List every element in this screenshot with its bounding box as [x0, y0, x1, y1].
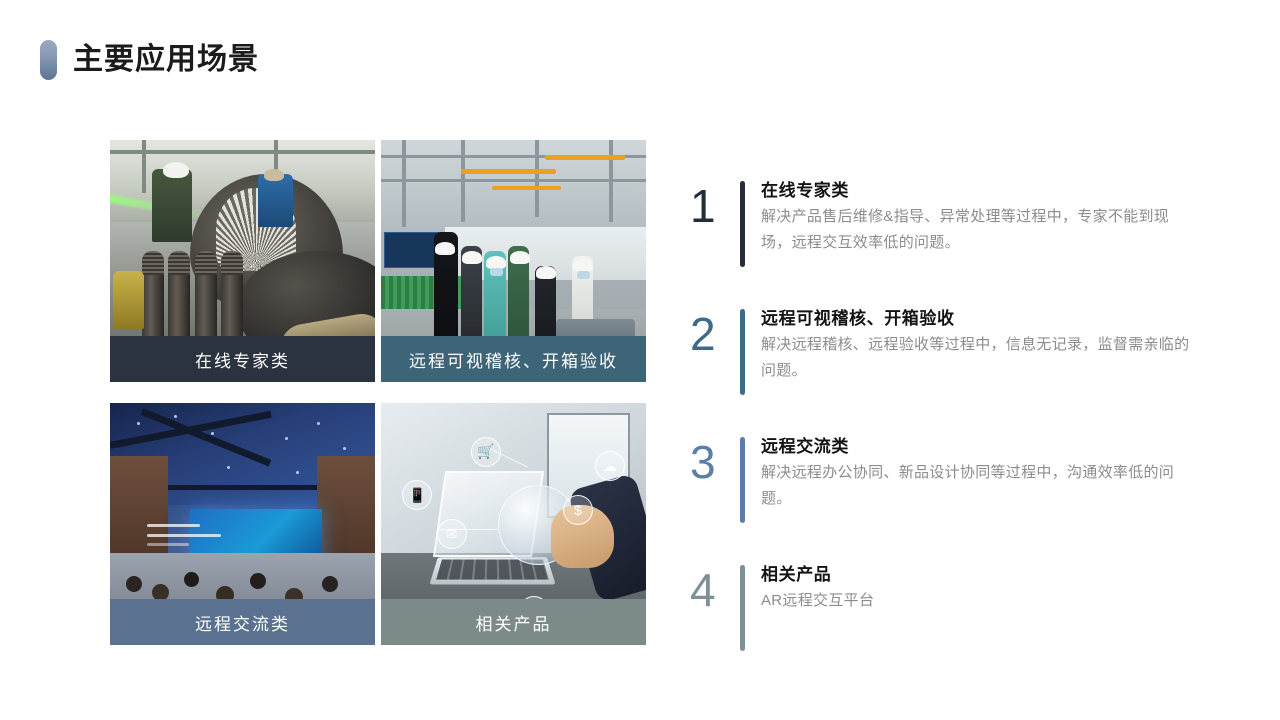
photo-card-remote-communication[interactable]: 远程交流类 — [110, 403, 375, 645]
list-item[interactable]: 4 相关产品 AR远程交互平台 — [690, 562, 1210, 670]
photo-card-related-product[interactable]: 🛒 ✉ 📱 ☁ $ ▯ 相关产品 — [381, 403, 646, 645]
photo-caption: 在线专家类 — [110, 336, 375, 382]
point-title: 远程交流类 — [761, 434, 1210, 460]
photo-caption: 远程交流类 — [110, 599, 375, 645]
point-number: 4 — [690, 562, 740, 618]
photo-caption: 远程可视稽核、开箱验收 — [381, 336, 646, 382]
page-title: 主要应用场景 — [73, 45, 259, 75]
point-description: 解决远程稽核、远程验收等过程中，信息无记录，监督需亲临的问题。 — [761, 332, 1191, 384]
point-description: 解决远程办公协同、新品设计协同等过程中，沟通效率低的问题。 — [761, 460, 1191, 512]
photo-card-online-expert[interactable]: 在线专家类 — [110, 140, 375, 382]
scenario-points-list: 1 在线专家类 解决产品售后维修&指导、异常处理等过程中，专家不能到现场，远程交… — [690, 178, 1210, 670]
point-number: 3 — [690, 434, 740, 490]
point-title: 在线专家类 — [761, 178, 1210, 204]
point-title: 远程可视稽核、开箱验收 — [761, 306, 1210, 332]
point-title: 相关产品 — [761, 562, 1210, 588]
scenario-image-grid: 在线专家类 — [110, 140, 646, 645]
point-description: AR远程交互平台 — [761, 588, 1191, 614]
list-item[interactable]: 1 在线专家类 解决产品售后维修&指导、异常处理等过程中，专家不能到现场，远程交… — [690, 178, 1210, 286]
cloud-icon: ☁ — [595, 451, 625, 481]
list-item[interactable]: 2 远程可视稽核、开箱验收 解决远程稽核、远程验收等过程中，信息无记录，监督需亲… — [690, 306, 1210, 414]
point-description: 解决产品售后维修&指导、异常处理等过程中，专家不能到现场，远程交互效率低的问题。 — [761, 204, 1191, 256]
point-number: 2 — [690, 306, 740, 362]
photo-caption: 相关产品 — [381, 599, 646, 645]
list-item[interactable]: 3 远程交流类 解决远程办公协同、新品设计协同等过程中，沟通效率低的问题。 — [690, 434, 1210, 542]
pill-bullet-icon — [40, 40, 57, 80]
photo-card-remote-audit[interactable]: 远程可视稽核、开箱验收 — [381, 140, 646, 382]
cart-icon: 🛒 — [471, 437, 501, 467]
phone-icon: 📱 — [402, 480, 432, 510]
point-number: 1 — [690, 178, 740, 234]
mail-icon: ✉ — [437, 519, 467, 549]
slide-title: 主要应用场景 — [40, 40, 259, 80]
dollar-icon: $ — [563, 495, 593, 525]
